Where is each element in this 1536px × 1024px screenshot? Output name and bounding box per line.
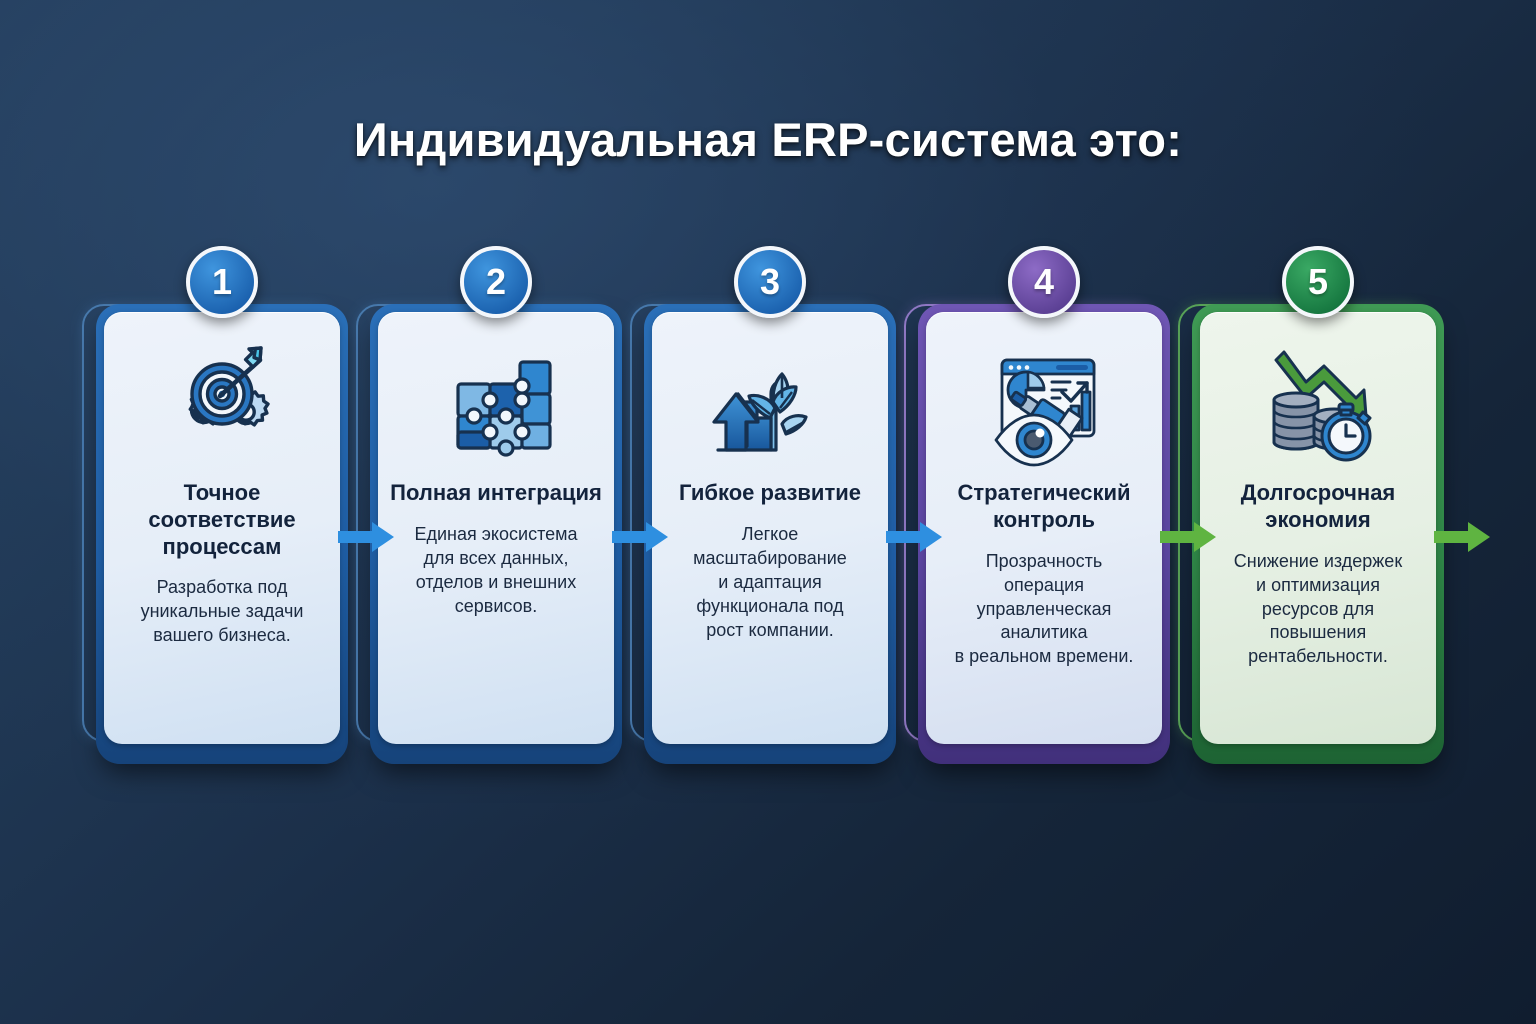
card-5-title: Долгосрочная экономия [1212, 480, 1424, 534]
card-3[interactable]: Гибкое развитие Легкое масштабирование и… [644, 282, 896, 764]
card-2[interactable]: Полная интеграция Единая экосистема для … [370, 282, 622, 764]
card-1[interactable]: Точное соответствие процессам Разработка… [96, 282, 348, 764]
arrow-4-to-5 [1160, 520, 1216, 554]
card-4-desc: Прозрачность операция управленческая ана… [955, 550, 1134, 670]
card-5-body[interactable]: Долгосрочная экономия Снижение издержек … [1200, 312, 1436, 744]
card-4-number-badge: 4 [1008, 246, 1080, 318]
card-5-number-badge: 5 [1282, 246, 1354, 318]
card-4[interactable]: Стратегический контроль Прозрачность опе… [918, 282, 1170, 764]
card-1-desc: Разработка под уникальные задачи вашего … [141, 576, 304, 648]
page-title: Индивидуальная ERP-система это: [0, 112, 1536, 167]
card-3-number-badge: 3 [734, 246, 806, 318]
card-4-body[interactable]: Стратегический контроль Прозрачность опе… [926, 312, 1162, 744]
infographic-stage: Индивидуальная ERP-система это: [0, 0, 1536, 1024]
growth-arrow-plant-icon [708, 346, 832, 470]
card-row: Точное соответствие процессам Разработка… [0, 282, 1536, 782]
card-1-body[interactable]: Точное соответствие процессам Разработка… [104, 312, 340, 744]
card-1-title: Точное соответствие процессам [116, 480, 328, 560]
dashboard-eye-telescope-icon [982, 346, 1106, 470]
card-4-title: Стратегический контроль [938, 480, 1150, 534]
arrow-1-to-2 [338, 520, 394, 554]
card-2-title: Полная интеграция [390, 480, 602, 507]
card-3-title: Гибкое развитие [679, 480, 861, 507]
arrow-2-to-3 [612, 520, 668, 554]
card-1-number-badge: 1 [186, 246, 258, 318]
card-3-desc: Легкое масштабирование и адаптация функц… [693, 523, 847, 643]
card-2-desc: Единая экосистема для всех данных, отдел… [414, 523, 577, 619]
card-2-number-badge: 2 [460, 246, 532, 318]
card-5[interactable]: Долгосрочная экономия Снижение издержек … [1192, 282, 1444, 764]
card-5-desc: Снижение издержек и оптимизация ресурсов… [1234, 550, 1402, 670]
target-gears-icon [160, 346, 284, 470]
puzzle-pieces-icon [434, 346, 558, 470]
arrow-3-to-4 [886, 520, 942, 554]
card-3-body[interactable]: Гибкое развитие Легкое масштабирование и… [652, 312, 888, 744]
arrow-5-out [1434, 520, 1490, 554]
card-2-body[interactable]: Полная интеграция Единая экосистема для … [378, 312, 614, 744]
coins-down-arrow-stopwatch-icon [1256, 346, 1380, 470]
